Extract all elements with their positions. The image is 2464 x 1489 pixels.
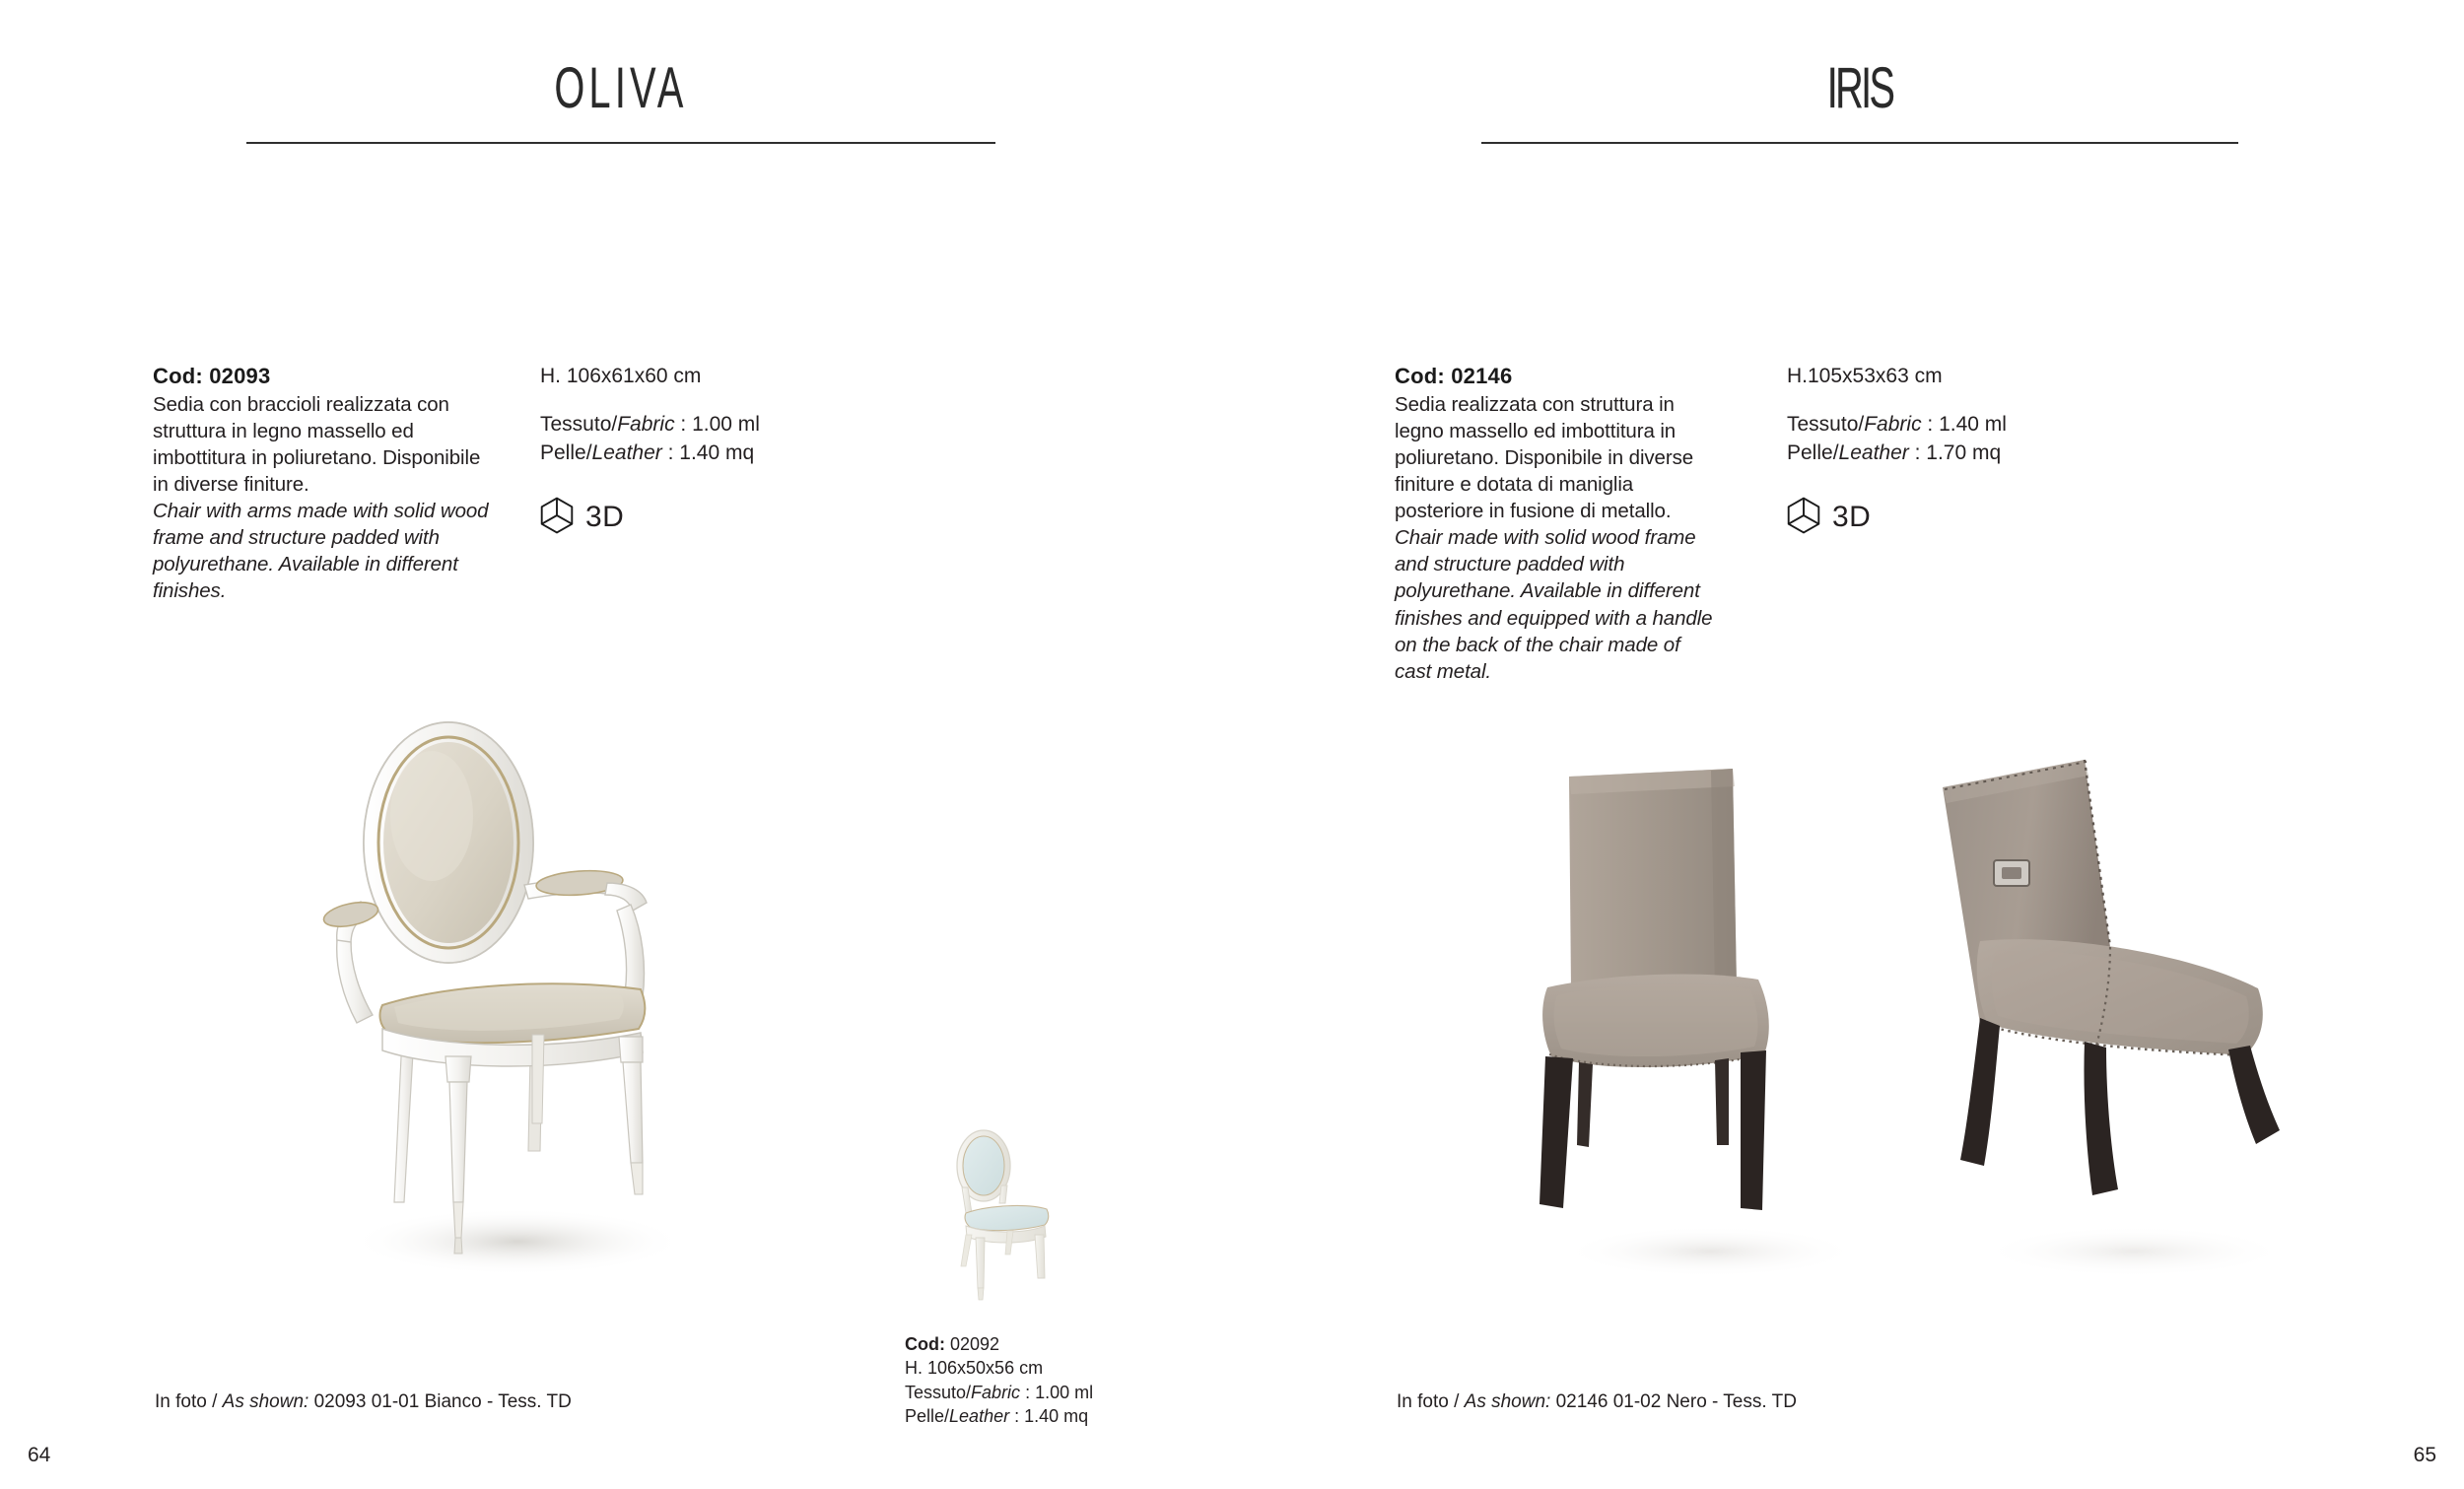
secondary-fabric-pre: Tessuto/ xyxy=(905,1383,971,1402)
product-photo-iris-front xyxy=(1518,759,1902,1306)
right-page-header: IRIS xyxy=(1481,71,2238,144)
catalogue-spread: OLIVA Cod: 02093 Sedia con braccioli rea… xyxy=(0,0,2464,1489)
left-as-shown-caption: In foto / As shown: 02093 01-01 Bianco -… xyxy=(155,1390,572,1415)
collection-title-oliva: OLIVA xyxy=(299,58,943,116)
left-description-italian: Sedia con braccioli realizzata con strut… xyxy=(153,391,493,498)
header-rule-right xyxy=(1481,142,2238,144)
product-photo-iris-back xyxy=(1937,754,2331,1306)
left-leather-label-em: Leather xyxy=(592,441,662,464)
right-dimensions: H.105x53x63 cm xyxy=(1787,363,2122,389)
left-as-shown-post: 02093 01-01 Bianco - Tess. TD xyxy=(308,1391,572,1412)
right-as-shown-caption: In foto / As shown: 02146 01-02 Nero - T… xyxy=(1397,1390,1797,1415)
right-product-info: Cod: 02146 Sedia realizzata con struttur… xyxy=(1395,363,2282,685)
left-dimensions: H. 106x61x60 cm xyxy=(540,363,875,389)
right-3d-badge[interactable]: 3D xyxy=(1787,497,2122,539)
header-rule-left xyxy=(246,142,995,144)
left-as-shown-em: As shown: xyxy=(223,1391,309,1412)
product-photo-02092-side-chair xyxy=(936,1128,1084,1311)
right-description-column: Cod: 02146 Sedia realizzata con struttur… xyxy=(1395,363,1720,685)
right-leather-label-pre: Pelle/ xyxy=(1787,441,1839,464)
cube-3d-icon xyxy=(540,497,574,539)
secondary-leather-pre: Pelle/ xyxy=(905,1406,949,1426)
right-description-italian: Sedia realizzata con struttura in legno … xyxy=(1395,391,1720,524)
left-fabric-label-pre: Tessuto/ xyxy=(540,413,617,436)
right-product-code: Cod: 02146 xyxy=(1395,363,1720,390)
left-as-shown-pre: In foto / xyxy=(155,1391,223,1412)
right-spec-column: H.105x53x63 cm Tessuto/Fabric : 1.40 ml … xyxy=(1787,363,2122,539)
right-fabric-label-em: Fabric xyxy=(1864,413,1921,436)
left-fabric-value: : 1.00 ml xyxy=(675,413,760,436)
cube-3d-icon xyxy=(1787,497,1820,539)
secondary-product-fabric: Tessuto/Fabric : 1.00 ml xyxy=(905,1381,1200,1404)
right-description-english: Chair made with solid wood frame and str… xyxy=(1395,524,1720,684)
product-photo-oliva-armchair xyxy=(296,690,749,1301)
right-leather-spec: Pelle/Leather : 1.70 mq xyxy=(1787,440,2122,467)
right-leather-value: : 1.70 mq xyxy=(1909,441,2001,464)
right-leather-label-em: Leather xyxy=(1839,441,1909,464)
left-leather-label-pre: Pelle/ xyxy=(540,441,592,464)
collection-title-iris: IRIS xyxy=(1535,58,2185,116)
left-3d-label: 3D xyxy=(585,503,624,532)
secondary-product-cod-value: 02092 xyxy=(945,1334,999,1354)
left-spec-column: H. 106x61x60 cm Tessuto/Fabric : 1.00 ml… xyxy=(540,363,875,539)
secondary-fabric-post: : 1.00 ml xyxy=(1020,1383,1093,1402)
secondary-product-leather: Pelle/Leather : 1.40 mq xyxy=(905,1404,1200,1428)
right-3d-label: 3D xyxy=(1832,503,1871,532)
right-fabric-value: : 1.40 ml xyxy=(1922,413,2007,436)
right-fabric-spec: Tessuto/Fabric : 1.40 ml xyxy=(1787,411,2122,439)
left-leather-value: : 1.40 mq xyxy=(662,441,754,464)
secondary-product-cod-key: Cod: xyxy=(905,1334,945,1354)
left-product-info: Cod: 02093 Sedia con braccioli realizzat… xyxy=(153,363,1040,605)
left-description-english: Chair with arms made with solid wood fra… xyxy=(153,498,493,604)
left-product-code: Cod: 02093 xyxy=(153,363,493,390)
right-as-shown-post: 02146 01-02 Nero - Tess. TD xyxy=(1550,1391,1797,1412)
cast-metal-handle xyxy=(1994,860,2029,886)
secondary-product-dimensions: H. 106x50x56 cm xyxy=(905,1356,1200,1380)
left-leather-spec: Pelle/Leather : 1.40 mq xyxy=(540,440,875,467)
right-as-shown-em: As shown: xyxy=(1465,1391,1551,1412)
secondary-leather-em: Leather xyxy=(949,1406,1009,1426)
folio-left: 64 xyxy=(28,1445,50,1465)
secondary-product-caption: Cod: 02092 H. 106x50x56 cm Tessuto/Fabri… xyxy=(905,1332,1200,1428)
secondary-fabric-em: Fabric xyxy=(971,1383,1020,1402)
right-fabric-label-pre: Tessuto/ xyxy=(1787,413,1864,436)
left-fabric-spec: Tessuto/Fabric : 1.00 ml xyxy=(540,411,875,439)
folio-right: 65 xyxy=(2414,1445,2436,1465)
right-as-shown-pre: In foto / xyxy=(1397,1391,1465,1412)
left-page: OLIVA Cod: 02093 Sedia con braccioli rea… xyxy=(0,0,1232,1489)
secondary-leather-post: : 1.40 mq xyxy=(1009,1406,1088,1426)
left-fabric-label-em: Fabric xyxy=(617,413,674,436)
left-description-column: Cod: 02093 Sedia con braccioli realizzat… xyxy=(153,363,493,605)
left-3d-badge[interactable]: 3D xyxy=(540,497,875,539)
left-page-header: OLIVA xyxy=(246,71,995,144)
secondary-product-code-line: Cod: 02092 xyxy=(905,1332,1200,1356)
